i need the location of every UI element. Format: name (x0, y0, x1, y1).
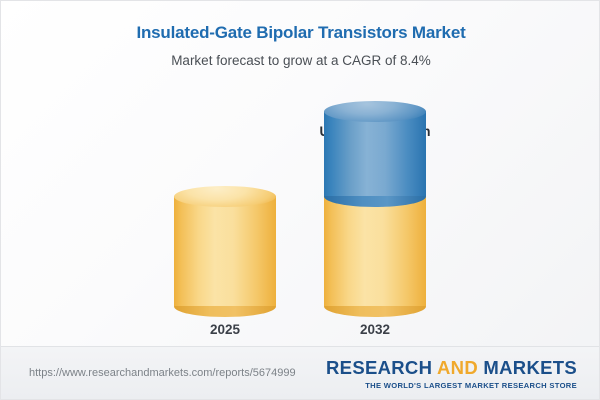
cylinder-body (174, 196, 276, 306)
bar-segment-base-2032[interactable] (324, 196, 426, 306)
cylinder-body (324, 196, 426, 306)
cylinder-2025[interactable] (174, 196, 276, 306)
bar-segment-base-2025[interactable] (174, 196, 276, 306)
report-url[interactable]: https://www.researchandmarkets.com/repor… (29, 367, 296, 379)
logo-word-research: RESEARCH (326, 357, 437, 378)
footer-bar: https://www.researchandmarkets.com/repor… (1, 346, 600, 399)
market-forecast-infographic: Insulated-Gate Bipolar Transistors Marke… (0, 0, 600, 400)
logo-word-and: AND (437, 357, 478, 378)
category-label-2032: 2032 (294, 322, 456, 337)
bar-segment-growth-2032[interactable] (324, 111, 426, 196)
research-and-markets-logo[interactable]: RESEARCH AND MARKETS THE WORLD'S LARGEST… (326, 359, 577, 389)
cylinder-2032[interactable] (324, 111, 426, 306)
logo-tagline: THE WORLD'S LARGEST MARKET RESEARCH STOR… (326, 382, 577, 390)
cylinder-top-cap (174, 186, 276, 207)
logo-wordmark: RESEARCH AND MARKETS (326, 359, 577, 378)
logo-word-markets: MARKETS (478, 357, 577, 378)
category-label-2025: 2025 (144, 322, 306, 337)
cylinder-body (324, 111, 426, 196)
cylinder-top-cap (324, 101, 426, 122)
chart-plot-area: USD 8 Billion 2025 USD 14.08 Billion (1, 1, 600, 349)
